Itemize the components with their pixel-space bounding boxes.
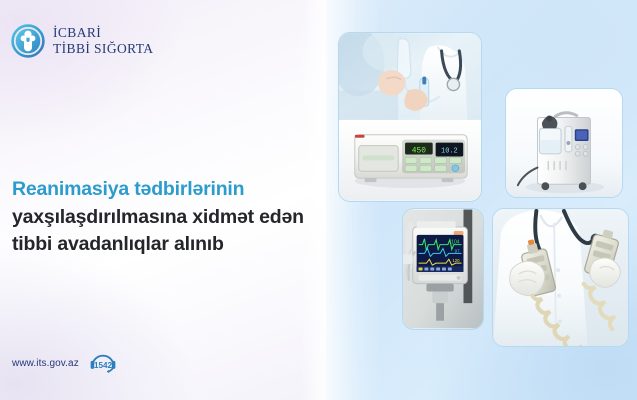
brand-logo-text: İCBARİ TİBBİ SIĞORTA (53, 25, 153, 57)
website-url[interactable]: www.its.gov.az (12, 358, 79, 369)
svg-text:10.2: 10.2 (441, 148, 458, 156)
gallery-item-patient-monitor[interactable]: 104 97 120 (402, 208, 484, 330)
headline-line-2: yaxşılaşdırılmasına xidmət edən (12, 204, 330, 232)
headline-line-1: Reanimasiya tədbirlərinin (12, 176, 330, 204)
infusion-pump-image: 450 10.2 (339, 33, 481, 201)
brand-name-line-2: TİBBİ SIĞORTA (53, 41, 153, 57)
its-person-circle-logo-icon (11, 24, 45, 58)
gallery-item-infusion-pump[interactable]: 450 10.2 (338, 32, 482, 202)
headset-call-arc-icon[interactable]: 1542 (86, 350, 120, 376)
svg-text:120: 120 (452, 258, 460, 263)
footer: www.its.gov.az 1542 (12, 350, 120, 376)
defibrillator-paddles-image (493, 209, 628, 346)
brand-logo: İCBARİ TİBBİ SIĞORTA (11, 24, 153, 58)
headline: Reanimasiya tədbirlərinin yaxşılaşdırılm… (12, 176, 330, 259)
brand-name-line-1: İCBARİ (53, 25, 153, 41)
poster-canvas: İCBARİ TİBBİ SIĞORTA Reanimasiya tədbirl… (0, 0, 637, 400)
patient-monitor-image: 104 97 120 (403, 209, 483, 329)
gallery-item-defibrillator-paddles[interactable] (492, 208, 629, 347)
oxygen-concentrator-image (506, 89, 622, 197)
svg-text:450: 450 (412, 147, 426, 156)
gallery-item-oxygen-concentrator[interactable] (505, 88, 623, 198)
hotline-number: 1542 (94, 361, 113, 370)
headline-line-3: tibbi avadanlıqlar alınıb (12, 231, 330, 259)
svg-text:104: 104 (451, 240, 460, 246)
svg-text:97: 97 (455, 248, 460, 253)
